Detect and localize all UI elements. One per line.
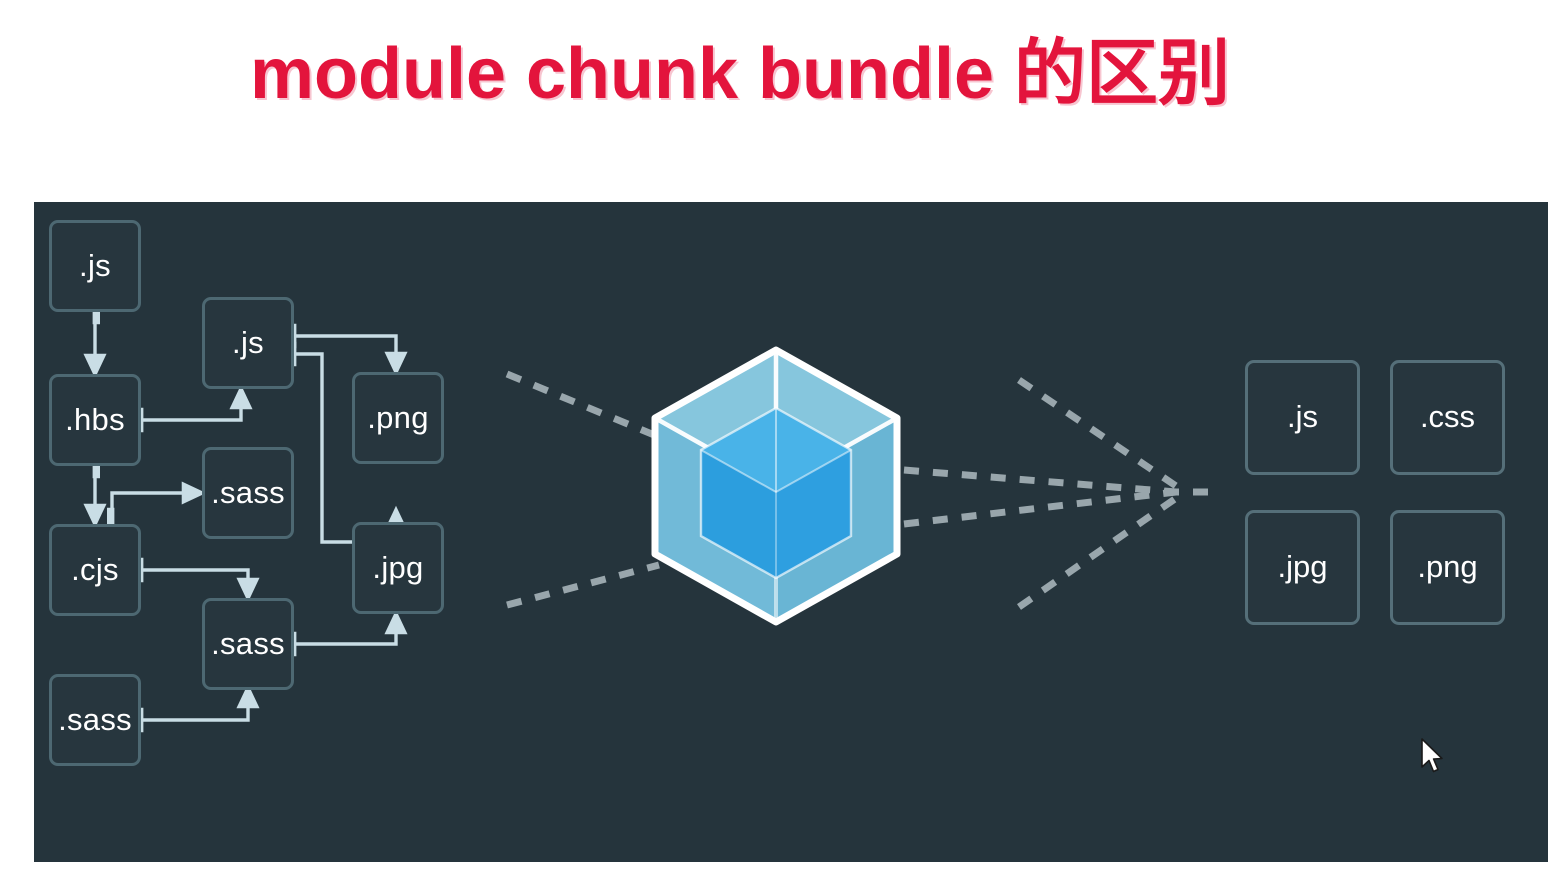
asset-box-jpg[interactable]: .jpg [1245,510,1360,625]
module-label: .cjs [71,554,119,585]
module-label: .jpg [372,552,423,583]
module-box-sass-2[interactable]: .sass [202,447,294,539]
module-box-sass-3[interactable]: .sass [202,598,294,690]
asset-box-png[interactable]: .png [1390,510,1505,625]
title-bar: module chunk bundle 的区别 [0,0,1562,180]
module-label: .sass [58,704,132,735]
module-box-sass-1[interactable]: .sass [49,674,141,766]
asset-label: .css [1420,401,1475,432]
output-dashed-arrow [904,380,1212,607]
module-label: .js [79,250,111,281]
module-box-js-2[interactable]: .js [202,297,294,389]
asset-label: .js [1287,401,1318,432]
webpack-diagram-panel: .js .hbs .cjs .sass .js .sass .sass .png… [34,202,1548,862]
module-label: .js [232,327,264,358]
module-label: .sass [211,477,285,508]
input-dashed-lines [507,374,659,605]
module-box-jpg[interactable]: .jpg [352,522,444,614]
module-box-hbs[interactable]: .hbs [49,374,141,466]
module-label: .hbs [65,404,125,435]
asset-label: .png [1417,551,1477,582]
webpack-cube-logo [655,350,897,622]
module-label: .png [367,402,429,433]
mouse-cursor-icon [1420,738,1446,776]
page-title: module chunk bundle 的区别 [250,38,1230,110]
module-box-js-1[interactable]: .js [49,220,141,312]
module-box-cjs[interactable]: .cjs [49,524,141,616]
module-label: .sass [211,628,285,659]
module-box-png[interactable]: .png [352,372,444,464]
asset-box-js[interactable]: .js [1245,360,1360,475]
asset-label: .jpg [1278,551,1328,582]
asset-box-css[interactable]: .css [1390,360,1505,475]
